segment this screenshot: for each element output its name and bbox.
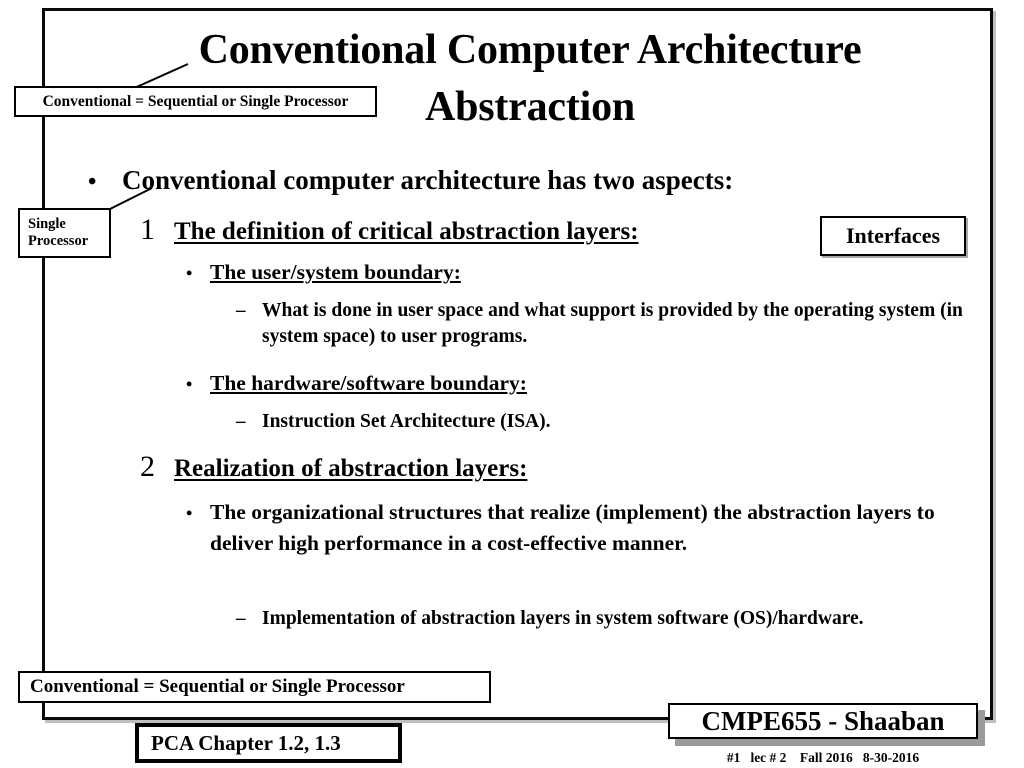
detail-implementation-system-software: – Implementation of abstraction layers i… <box>236 606 936 632</box>
main-bullet-text: Conventional computer architecture has t… <box>122 165 733 196</box>
slide-canvas: Conventional Computer Architecture Abstr… <box>0 0 1024 768</box>
sub-bullet-user-system-boundary: • The user/system boundary: <box>186 260 946 285</box>
slide-meta-footer: #1 lec # 2 Fall 2016 8-30-2016 <box>668 750 978 766</box>
detail-user-space-support: – What is done in user space and what su… <box>236 298 976 351</box>
bullet-icon: • <box>88 170 122 194</box>
sub-bullet-user-system-boundary-text: The user/system boundary: <box>210 260 461 285</box>
numbered-item-2-heading: Realization of abstraction layers: <box>174 455 527 483</box>
dash-icon: – <box>236 409 262 435</box>
sub-bullet-organizational-structures: • The organizational structures that rea… <box>186 497 946 559</box>
detail-implementation-system-software-text: Implementation of abstraction layers in … <box>262 606 864 632</box>
main-bullet-row: • Conventional computer architecture has… <box>88 165 968 196</box>
sub-bullet-hardware-software-boundary: • The hardware/software boundary: <box>186 371 946 396</box>
course-brand-label: CMPE655 - Shaaban <box>701 706 944 737</box>
dash-icon: – <box>236 606 262 632</box>
dash-icon: – <box>236 298 262 324</box>
numbered-item-2-number: 2 <box>140 450 174 484</box>
sub-bullet-hardware-software-boundary-text: The hardware/software boundary: <box>210 371 527 396</box>
slide-body: • Conventional computer architecture has… <box>0 0 1024 768</box>
numbered-item-1-number: 1 <box>140 213 174 247</box>
bullet-icon: • <box>186 263 210 284</box>
numbered-item-2: 2 Realization of abstraction layers: <box>140 450 840 484</box>
bullet-icon: • <box>186 374 210 395</box>
detail-user-space-support-text: What is done in user space and what supp… <box>262 298 976 351</box>
detail-instruction-set-architecture: – Instruction Set Architecture (ISA). <box>236 409 976 435</box>
sub-bullet-organizational-structures-text: The organizational structures that reali… <box>210 497 946 559</box>
detail-instruction-set-architecture-text: Instruction Set Architecture (ISA). <box>262 409 551 435</box>
numbered-item-1-heading: The definition of critical abstraction l… <box>174 218 639 246</box>
bullet-icon: • <box>186 500 210 526</box>
numbered-item-1: 1 The definition of critical abstraction… <box>140 213 840 247</box>
course-brand-badge: CMPE655 - Shaaban <box>668 703 978 739</box>
